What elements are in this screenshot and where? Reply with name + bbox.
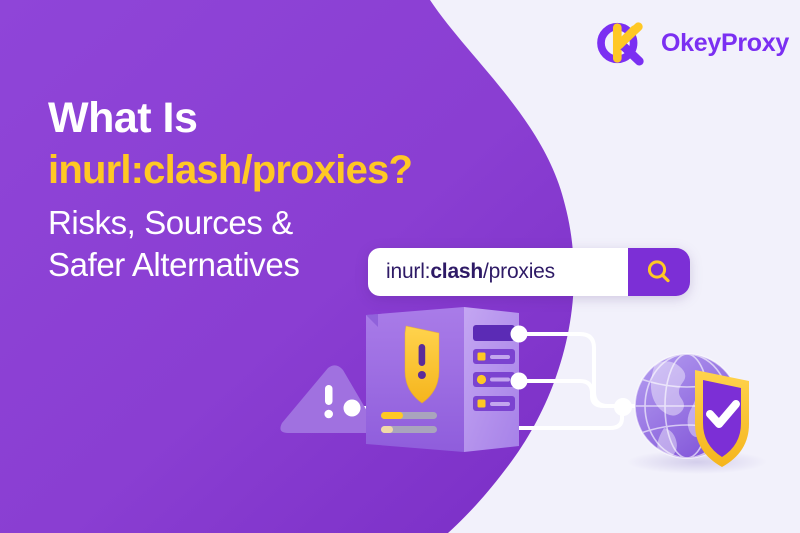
illustration-group bbox=[0, 0, 800, 533]
server-panel-row-1 bbox=[473, 349, 515, 364]
server-panel-row-3 bbox=[473, 396, 515, 411]
connector-node-warning bbox=[344, 400, 361, 417]
connector-node-1 bbox=[511, 326, 528, 343]
server-illustration bbox=[366, 307, 519, 452]
server-panel-row-2 bbox=[473, 372, 515, 387]
banner-canvas: OkeyProxy What Is inurl:clash/proxies? R… bbox=[0, 0, 800, 533]
warning-triangle-exclamation-icon bbox=[280, 365, 375, 433]
shield-exclamation-alert-icon bbox=[405, 326, 439, 403]
connector-node-2 bbox=[511, 373, 528, 390]
connector-node-3 bbox=[614, 398, 632, 416]
